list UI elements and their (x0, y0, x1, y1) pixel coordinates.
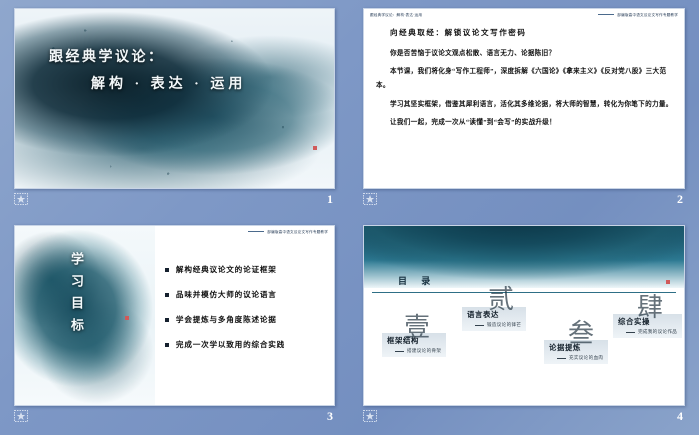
header-right-text: 部编版高中语文议论文写作专题教学 (617, 13, 678, 17)
slide-2-content: 向经典取经：解锁议论文写作密码 你是否苦恼于议论文观点松散、语言无力、论据陈旧？… (376, 21, 674, 180)
objective-text: 品味并模仿大师的议论语言 (176, 289, 277, 300)
slide-number-3: 3 (327, 409, 333, 424)
objective-text: 学会提炼与多角度陈述论据 (176, 314, 277, 325)
slide-3-footer: 3 (14, 406, 335, 432)
slide-cell-2: 跟经典学议论：解构·表达·运用 部编版高中语文议论文写作专题教学 向经典取经：解… (349, 0, 699, 217)
slide-number-2: 2 (677, 192, 683, 207)
header-right-text: 部编版高中语文议论文写作专题教学 (267, 230, 328, 234)
entry-subtitle-text: 锻造议论的锋芒 (487, 322, 521, 327)
slide-cell-3: 部编版高中语文议论文写作专题教学 学习目标 解构经典议论文的论证框架 品味并模仿… (0, 217, 349, 435)
slide-2-paragraph-2: 本节课，我们将化身“写作工程师”，深度拆解《六国论》《拿来主义》《反对党八股》三… (376, 65, 674, 93)
title-line-2: 解构 · 表达 · 运用 (91, 72, 246, 99)
catalog-entry-2[interactable]: 贰 语言表达 锻造议论的锋芒 (462, 288, 526, 331)
title-line-1: 跟经典学议论： (49, 50, 165, 65)
slide-2[interactable]: 跟经典学议论：解构·表达·运用 部编版高中语文议论文写作专题教学 向经典取经：解… (363, 8, 685, 189)
red-seal-dot (125, 316, 129, 320)
entry-number: 贰 (488, 288, 526, 311)
slide-cell-4: 目 录 壹 框架结构 搭建议论的骨架 贰 语言表达 锻造议论的锋芒 (349, 217, 699, 435)
slideshow-icon (363, 410, 377, 422)
list-item: 品味并模仿大师的议论语言 (165, 289, 326, 300)
slideshow-icon (14, 410, 28, 422)
entry-subtitle: 充实议论的血肉 (549, 355, 603, 361)
bullet-square-icon (165, 268, 169, 272)
header-left-text: 跟经典学议论：解构·表达·运用 (370, 13, 422, 18)
slide-2-paragraph-4: 让我们一起，完成一次从“读懂”到“会写”的实战升级！ (376, 116, 674, 130)
entry-subtitle-text: 充实议论的血肉 (569, 355, 603, 360)
slide-2-heading: 向经典取经：解锁议论文写作密码 (390, 27, 674, 38)
slide-3-header: 部编版高中语文议论文写作专题教学 (15, 226, 334, 238)
dash-icon (475, 325, 484, 326)
slide-2-paragraph-3: 学习其坚实框架，借鉴其犀利语言，活化其多维论据，将大师的智慧，转化为你笔下的力量… (376, 98, 674, 112)
red-seal-dot (313, 146, 317, 150)
slide-2-footer: 2 (363, 189, 685, 215)
slide-2-paragraph-1: 你是否苦恼于议论文观点松散、语言无力、论据陈旧？ (376, 47, 674, 61)
list-item: 学会提炼与多角度陈述论据 (165, 314, 326, 325)
list-item: 完成一次学以致用的综合实践 (165, 339, 326, 350)
entry-subtitle: 锻造议论的锋芒 (467, 322, 521, 328)
slide-4-footer: 4 (363, 406, 685, 432)
slide-1[interactable]: 跟经典学议论： 解构 · 表达 · 运用 (14, 8, 335, 189)
dash-icon (395, 351, 404, 352)
entry-subtitle: 完成我的议论作品 (618, 329, 677, 335)
ink-spray-decoration (15, 9, 334, 188)
catalog-title: 目 录 (398, 274, 436, 287)
bullet-square-icon (165, 343, 169, 347)
bullet-square-icon (165, 293, 169, 297)
catalog-entry-3[interactable]: 叁 论据提炼 充实议论的血肉 (544, 322, 608, 364)
header-right-wrap: 部编版高中语文议论文写作专题教学 (598, 13, 678, 18)
entry-number: 叁 (568, 322, 608, 345)
entry-number: 壹 (404, 316, 446, 339)
entry-subtitle-text: 搭建议论的骨架 (407, 348, 441, 353)
header-right-wrap: 部编版高中语文议论文写作专题教学 (248, 230, 328, 235)
slide-3[interactable]: 部编版高中语文议论文写作专题教学 学习目标 解构经典议论文的论证框架 品味并模仿… (14, 225, 335, 406)
objective-text: 解构经典议论文的论证框架 (176, 264, 277, 275)
list-item: 解构经典议论文的论证框架 (165, 264, 326, 275)
slide-2-header: 跟经典学议论：解构·表达·运用 部编版高中语文议论文写作专题教学 (364, 9, 684, 21)
entry-subtitle: 搭建议论的骨架 (387, 348, 441, 354)
objective-text: 完成一次学以致用的综合实践 (176, 339, 285, 350)
slide-3-vertical-title: 学习目标 (67, 252, 86, 340)
slide-1-title: 跟经典学议论： 解构 · 表达 · 运用 (49, 45, 246, 98)
slide-3-objective-list: 解构经典议论文的论证框架 品味并模仿大师的议论语言 学会提炼与多角度陈述论据 完… (165, 264, 326, 364)
slideshow-icon (14, 193, 28, 205)
slide-4[interactable]: 目 录 壹 框架结构 搭建议论的骨架 贰 语言表达 锻造议论的锋芒 (363, 225, 685, 406)
dash-icon (626, 332, 635, 333)
catalog-entries: 壹 框架结构 搭建议论的骨架 贰 语言表达 锻造议论的锋芒 叁 (364, 294, 684, 405)
red-seal-dot (666, 280, 670, 284)
header-rule (598, 14, 614, 15)
slide-cell-1: 跟经典学议论： 解构 · 表达 · 运用 1 (0, 0, 349, 217)
bullet-square-icon (165, 318, 169, 322)
slide-number-4: 4 (677, 409, 683, 424)
catalog-entry-1[interactable]: 壹 框架结构 搭建议论的骨架 (382, 316, 446, 357)
slide-1-footer: 1 (14, 189, 335, 215)
entry-number: 肆 (637, 296, 682, 319)
slide-number-1: 1 (327, 192, 333, 207)
catalog-entry-4[interactable]: 肆 综合实操 完成我的议论作品 (613, 296, 682, 338)
entry-subtitle-text: 完成我的议论作品 (638, 329, 677, 334)
slideshow-icon (363, 193, 377, 205)
slide-thumbnail-grid: 跟经典学议论： 解构 · 表达 · 运用 1 跟经典学议论：解构·表达·运用 部… (0, 0, 699, 435)
header-rule (248, 231, 264, 232)
dash-icon (557, 358, 566, 359)
